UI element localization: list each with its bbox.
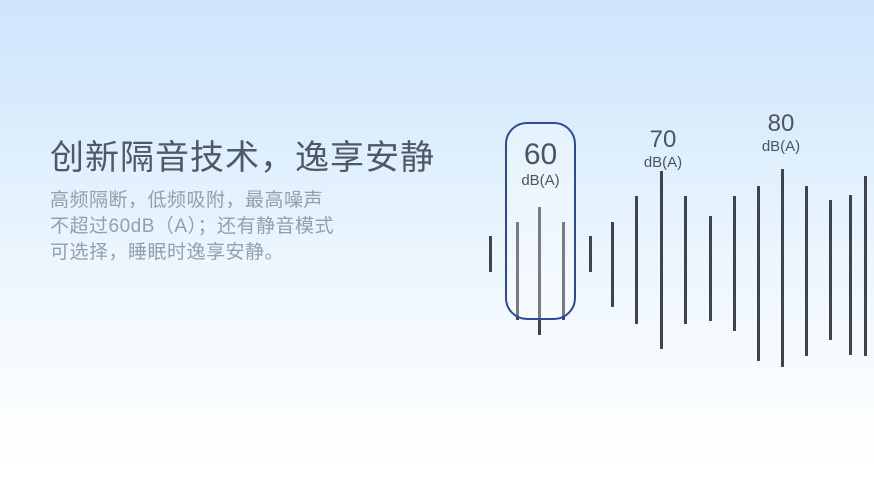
waveform-bar [709,216,712,321]
waveform-bar [781,169,784,367]
body-copy-line-1: 高频隔断，低频吸附，最高噪声 [50,188,480,214]
copy-block: 创新隔音技术，逸享安静 高频隔断，低频吸附，最高噪声 不超过60dB（A）；还有… [50,136,480,266]
label-80db-unit: dB(A) [745,139,817,156]
waveform-bar [805,186,808,356]
label-60db: 60 dB(A) [505,140,576,190]
waveform-bar [611,222,614,307]
waveform-bar [489,236,492,272]
page-title: 创新隔音技术，逸享安静 [50,136,480,180]
label-80db: 80 dB(A) [745,112,817,156]
label-60db-value: 60 [505,140,576,170]
label-70db: 70 dB(A) [627,128,699,172]
body-copy-line-3: 可选择，睡眠时逸享安静。 [50,240,480,266]
waveform-bar [849,195,852,355]
waveform-bar [829,200,832,340]
label-70db-value: 70 [627,128,699,152]
waveform-bar [684,196,687,324]
label-80db-value: 80 [745,112,817,136]
waveform-bar [733,196,736,331]
label-70db-unit: dB(A) [627,155,699,172]
waveform-bar [589,236,592,272]
waveform-bar [864,176,867,356]
body-copy-line-2: 不超过60dB（A）；还有静音模式 [50,214,480,240]
waveform-bar [635,196,638,324]
body-copy: 高频隔断，低频吸附，最高噪声 不超过60dB（A）；还有静音模式 可选择，睡眠时… [50,188,480,266]
waveform-bar [660,171,663,349]
label-60db-unit: dB(A) [505,173,576,190]
promo-banner: 60 dB(A) 70 dB(A) 80 dB(A) 创新隔音技术，逸享安静 高… [0,0,874,480]
waveform-bar [757,186,760,361]
